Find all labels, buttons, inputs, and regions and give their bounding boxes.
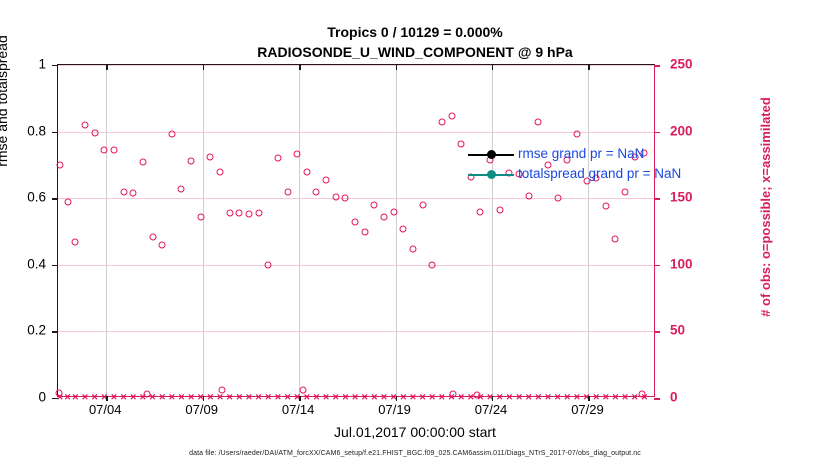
legend-marker-rmse <box>487 150 496 159</box>
x-axis-tick <box>396 396 397 401</box>
x-axis-tick-label: 07/29 <box>571 402 604 417</box>
figure-canvas: Tropics 0 / 10129 = 0.000% RADIOSONDE_U_… <box>0 0 830 470</box>
obs-possible-marker <box>178 185 185 192</box>
x-axis-tick <box>106 396 107 401</box>
obs-possible-marker <box>496 207 503 214</box>
left-axis-tick-label: 0.6 <box>0 190 46 205</box>
obs-possible-marker <box>323 176 330 183</box>
obs-assimilated-marker <box>515 394 524 403</box>
left-axis-tick <box>52 65 58 66</box>
right-axis-tick <box>654 331 660 333</box>
data-layer <box>58 65 654 396</box>
right-axis-tick <box>654 398 660 400</box>
obs-possible-marker <box>188 157 195 164</box>
left-axis-tick-label: 0.8 <box>0 123 46 138</box>
x-axis-tick-label: 07/09 <box>185 402 218 417</box>
right-axis-tick <box>654 132 660 134</box>
obs-possible-marker <box>168 131 175 138</box>
x-axis-tick-top <box>492 65 493 70</box>
obs-possible-marker <box>207 153 214 160</box>
obs-possible-marker <box>236 209 243 216</box>
obs-assimilated-marker <box>71 394 80 403</box>
obs-assimilated-marker <box>235 394 244 403</box>
x-axis-tick-label: 07/24 <box>475 402 508 417</box>
obs-assimilated-marker <box>457 394 466 403</box>
obs-possible-marker <box>299 387 306 394</box>
obs-possible-marker <box>101 147 108 154</box>
obs-assimilated-marker <box>129 394 138 403</box>
obs-assimilated-marker <box>244 394 253 403</box>
obs-assimilated-marker <box>428 394 437 403</box>
obs-assimilated-marker <box>437 394 446 403</box>
right-axis-tick-label: 150 <box>670 190 693 205</box>
left-axis-tick-label: 0 <box>0 390 46 405</box>
obs-possible-marker <box>535 119 542 126</box>
obs-possible-marker <box>381 213 388 220</box>
obs-possible-marker <box>525 192 532 199</box>
x-axis-tick-label: 07/19 <box>378 402 411 417</box>
obs-assimilated-marker <box>543 394 552 403</box>
obs-possible-marker <box>473 392 480 399</box>
obs-assimilated-marker <box>630 394 639 403</box>
obs-possible-marker <box>352 219 359 226</box>
obs-possible-marker <box>390 208 397 215</box>
obs-possible-marker <box>197 213 204 220</box>
right-axis-tick-label: 200 <box>670 123 693 138</box>
obs-possible-marker <box>55 389 62 396</box>
obs-assimilated-marker <box>524 394 533 403</box>
obs-possible-marker <box>159 241 166 248</box>
left-axis-tick <box>52 198 58 199</box>
obs-possible-marker <box>332 193 339 200</box>
obs-possible-marker <box>149 233 156 240</box>
obs-possible-marker <box>255 209 262 216</box>
obs-possible-marker <box>573 131 580 138</box>
obs-possible-marker <box>313 188 320 195</box>
obs-possible-marker <box>274 155 281 162</box>
obs-possible-marker <box>265 261 272 268</box>
obs-possible-marker <box>612 236 619 243</box>
obs-possible-marker <box>448 112 455 119</box>
obs-possible-marker <box>450 391 457 398</box>
obs-possible-marker <box>143 391 150 398</box>
legend: rmse grand pr = NaN totalspread grand pr… <box>462 145 714 187</box>
obs-possible-marker <box>72 239 79 246</box>
legend-marker-totalspread <box>487 170 496 179</box>
obs-possible-marker <box>226 209 233 216</box>
x-axis-tick <box>588 396 589 401</box>
data-file-footer: data file: /Users/raeder/DAI/ATM_forcXX/… <box>0 450 830 457</box>
x-axis-tick-top <box>203 65 204 70</box>
x-axis-tick <box>203 396 204 401</box>
obs-possible-marker <box>139 159 146 166</box>
obs-possible-marker <box>419 201 426 208</box>
obs-possible-marker <box>400 225 407 232</box>
obs-possible-marker <box>64 199 71 206</box>
x-axis-tick-top <box>106 65 107 70</box>
x-axis-tick-top <box>396 65 397 70</box>
left-axis-tick-label: 1 <box>0 57 46 72</box>
obs-possible-marker <box>303 168 310 175</box>
obs-possible-marker <box>361 228 368 235</box>
obs-possible-marker <box>554 195 561 202</box>
right-axis-tick-label: 50 <box>670 323 685 338</box>
obs-possible-marker <box>622 188 629 195</box>
right-axis-tick-label: 0 <box>670 390 678 405</box>
left-axis-tick-label: 0.2 <box>0 323 46 338</box>
obs-assimilated-marker <box>360 394 369 403</box>
left-axis-tick <box>52 265 58 266</box>
left-axis-tick <box>52 132 58 133</box>
obs-possible-marker <box>429 261 436 268</box>
left-axis-tick <box>52 398 58 399</box>
obs-assimilated-marker <box>225 394 234 403</box>
obs-possible-marker <box>245 211 252 218</box>
obs-possible-marker <box>110 147 117 154</box>
obs-assimilated-marker <box>553 394 562 403</box>
right-axis-tick <box>654 65 660 67</box>
obs-possible-marker <box>284 188 291 195</box>
plot-area: rmse grand pr = NaN totalspread grand pr… <box>57 64 655 397</box>
right-axis-tick <box>654 265 660 267</box>
obs-possible-marker <box>294 151 301 158</box>
obs-possible-marker <box>120 188 127 195</box>
right-axis-tick-label: 100 <box>670 256 693 271</box>
obs-assimilated-marker <box>158 394 167 403</box>
title-line-1: Tropics 0 / 10129 = 0.000% <box>0 22 830 42</box>
obs-possible-marker <box>218 387 225 394</box>
right-axis-tick-label: 250 <box>670 57 693 72</box>
obs-assimilated-marker <box>351 394 360 403</box>
obs-possible-marker <box>342 195 349 202</box>
obs-assimilated-marker <box>264 394 273 403</box>
x-axis-tick-label: 07/04 <box>89 402 122 417</box>
x-axis-tick-top <box>299 65 300 70</box>
obs-assimilated-marker <box>621 394 630 403</box>
legend-label-totalspread: totalspread grand pr = NaN <box>518 166 681 181</box>
obs-possible-marker <box>409 245 416 252</box>
obs-possible-marker <box>82 121 89 128</box>
obs-assimilated-marker <box>167 394 176 403</box>
left-axis-tick-label: 0.4 <box>0 256 46 271</box>
x-axis-tick <box>299 396 300 401</box>
right-axis-tick <box>654 198 660 200</box>
obs-assimilated-marker <box>341 394 350 403</box>
x-axis-tick-top <box>588 65 589 70</box>
obs-assimilated-marker <box>322 394 331 403</box>
obs-assimilated-marker <box>418 394 427 403</box>
obs-assimilated-marker <box>254 394 263 403</box>
obs-possible-marker <box>56 161 63 168</box>
chart-title: Tropics 0 / 10129 = 0.000% RADIOSONDE_U_… <box>0 22 830 62</box>
obs-possible-marker <box>639 391 646 398</box>
obs-possible-marker <box>602 203 609 210</box>
obs-assimilated-marker <box>611 394 620 403</box>
obs-possible-marker <box>130 189 137 196</box>
title-line-2: RADIOSONDE_U_WIND_COMPONENT @ 9 hPa <box>0 42 830 62</box>
left-axis-tick <box>52 331 58 332</box>
obs-assimilated-marker <box>534 394 543 403</box>
obs-possible-marker <box>438 119 445 126</box>
x-axis-tick-label: 07/14 <box>282 402 315 417</box>
obs-possible-marker <box>371 201 378 208</box>
obs-assimilated-marker <box>331 394 340 403</box>
x-axis-title: Jul.01,2017 00:00:00 start <box>0 424 830 440</box>
right-axis-title: # of obs: o=possible; x=assimilated <box>758 42 773 372</box>
legend-label-rmse: rmse grand pr = NaN <box>518 146 644 161</box>
obs-possible-marker <box>477 208 484 215</box>
obs-possible-marker <box>91 129 98 136</box>
x-axis-tick <box>492 396 493 401</box>
obs-possible-marker <box>217 168 224 175</box>
